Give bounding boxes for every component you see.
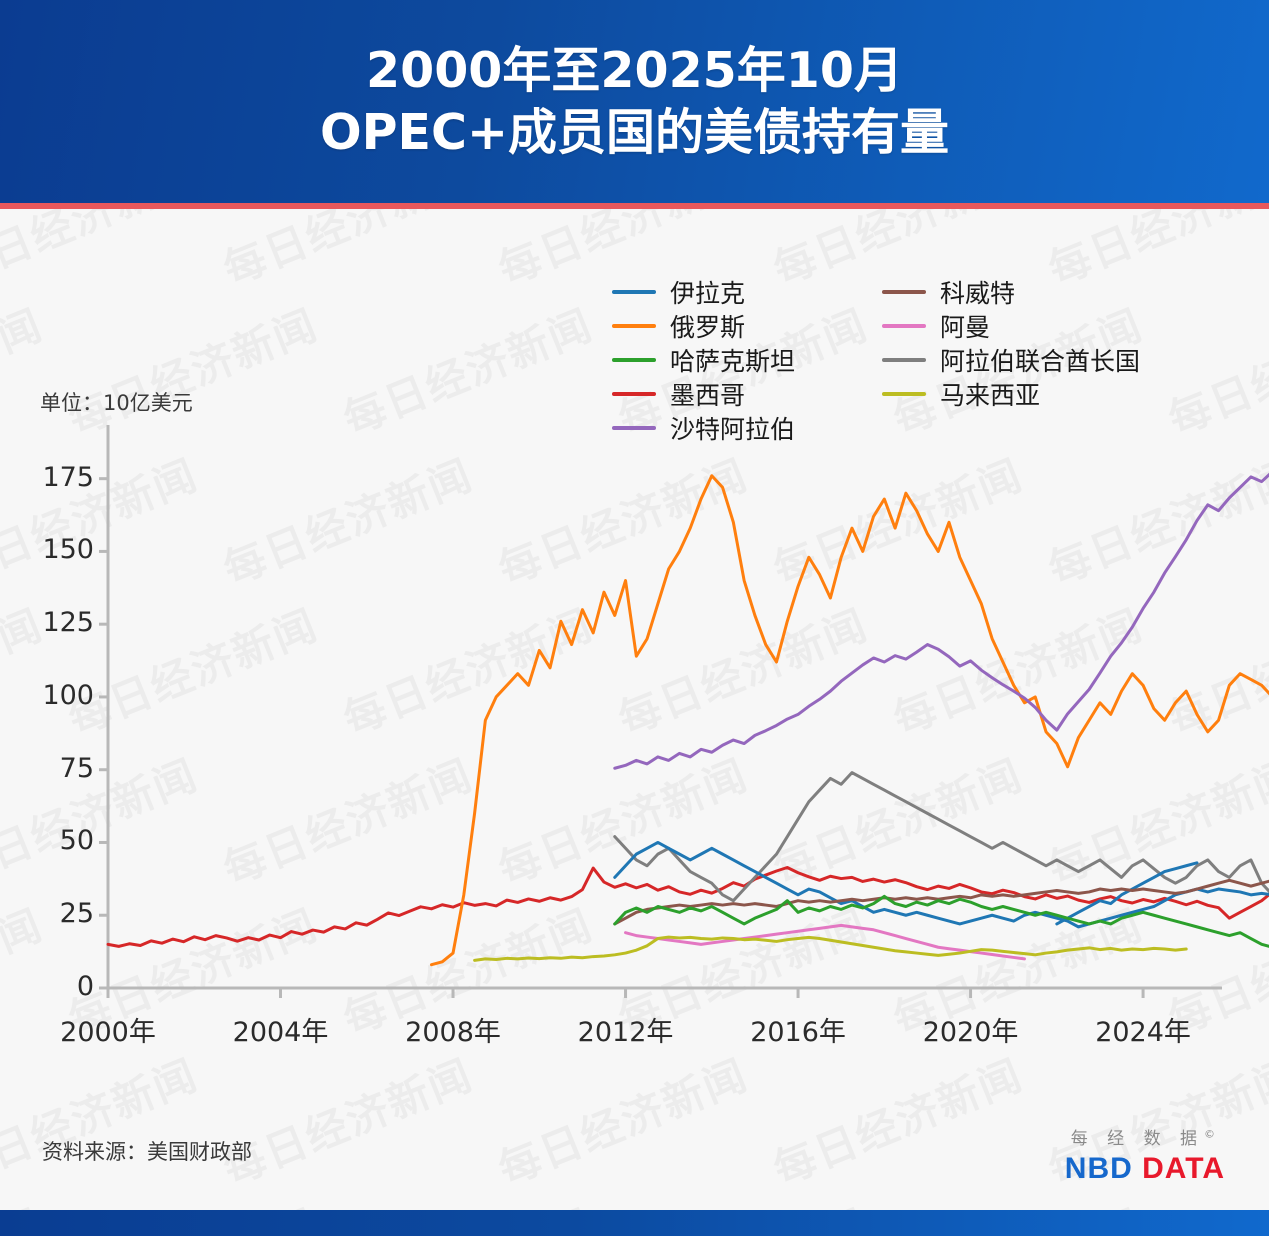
legend-color-swatch <box>882 358 926 362</box>
copyright-mark: © <box>1204 1127 1215 1140</box>
x-axis-tick-label: 2008年 <box>373 1010 533 1049</box>
legend-item[interactable]: 科威特 <box>882 275 1182 309</box>
brand-logo: 每 经 数 据© NBD DATA <box>1065 1124 1225 1186</box>
footer: 资料来源：美国财政部 每 经 数 据© NBD DATA <box>0 1110 1269 1210</box>
legend-item[interactable]: 伊拉克 <box>612 275 862 309</box>
y-axis-tick-label: 100 <box>10 680 94 711</box>
chart-container: 单位：10亿美元 伊拉克俄罗斯哈萨克斯坦墨西哥沙特阿拉伯科威特阿曼阿拉伯联合酋长… <box>0 209 1269 1210</box>
brand-cn-text: 每 经 数 据 <box>1071 1129 1204 1149</box>
legend-label: 墨西哥 <box>670 376 745 412</box>
chart-legend: 伊拉克俄罗斯哈萨克斯坦墨西哥沙特阿拉伯科威特阿曼阿拉伯联合酋长国马来西亚 <box>612 275 1182 445</box>
x-axis-tick-label: 2016年 <box>718 1010 878 1049</box>
legend-label: 俄罗斯 <box>670 308 745 344</box>
title-line-1: 2000年至2025年10月 <box>366 40 903 102</box>
legend-label: 哈萨克斯坦 <box>670 342 795 378</box>
footer-bar <box>0 1210 1269 1236</box>
x-axis-tick-label: 2000年 <box>28 1010 188 1049</box>
legend-color-swatch <box>612 358 656 362</box>
legend-label: 科威特 <box>940 274 1015 310</box>
legend-color-swatch <box>882 392 926 396</box>
legend-item[interactable]: 沙特阿拉伯 <box>612 411 862 445</box>
series-line-阿拉伯联合酋长国 <box>615 668 1269 930</box>
infographic-page: 2000年至2025年10月 OPEC+成员国的美债持有量 每日经济新闻每日经济… <box>0 0 1269 1236</box>
series-line-马来西亚 <box>475 937 1187 960</box>
source-note: 资料来源：美国财政部 <box>42 1136 252 1166</box>
legend-label: 伊拉克 <box>670 274 745 310</box>
y-axis-tick-label: 175 <box>10 462 94 493</box>
y-axis-tick-label: 75 <box>10 753 94 784</box>
legend-color-swatch <box>612 392 656 396</box>
legend-item[interactable]: 墨西哥 <box>612 377 862 411</box>
y-axis-tick-label: 25 <box>10 898 94 929</box>
y-axis-tick-label: 125 <box>10 607 94 638</box>
series-layer <box>108 452 1269 980</box>
x-axis-tick-label: 2024年 <box>1063 1010 1223 1049</box>
y-axis-tick-label: 150 <box>10 534 94 565</box>
legend-item[interactable]: 俄罗斯 <box>612 309 862 343</box>
brand-name-en: NBD DATA <box>1065 1152 1225 1186</box>
series-line-俄罗斯 <box>431 476 1269 980</box>
legend-item[interactable]: 阿曼 <box>882 309 1182 343</box>
legend-color-swatch <box>612 290 656 294</box>
title-line-2: OPEC+成员国的美债持有量 <box>320 102 949 164</box>
y-axis-tick-label: 50 <box>10 825 94 856</box>
brand-data-text: DATA <box>1142 1152 1225 1185</box>
legend-color-swatch <box>612 426 656 430</box>
legend-item[interactable]: 阿拉伯联合酋长国 <box>882 343 1182 377</box>
x-axis-tick-label: 2020年 <box>891 1010 1051 1049</box>
legend-color-swatch <box>882 290 926 294</box>
legend-item[interactable]: 马来西亚 <box>882 377 1182 411</box>
y-axis-tick-label: 0 <box>10 971 94 1002</box>
brand-nbd-text: NBD <box>1065 1152 1133 1185</box>
x-axis-tick-label: 2004年 <box>201 1010 361 1049</box>
brand-name-cn: 每 经 数 据© <box>1065 1124 1225 1149</box>
legend-label: 阿曼 <box>940 308 990 344</box>
legend-color-swatch <box>882 324 926 328</box>
axis-layer <box>99 425 1222 998</box>
series-line-沙特阿拉伯 <box>615 452 1269 768</box>
legend-label: 阿拉伯联合酋长国 <box>940 342 1140 378</box>
legend-color-swatch <box>612 324 656 328</box>
legend-label: 沙特阿拉伯 <box>670 410 795 446</box>
series-line-阿曼 <box>626 925 1025 958</box>
legend-label: 马来西亚 <box>940 376 1040 412</box>
x-axis-tick-label: 2012年 <box>546 1010 706 1049</box>
header-banner: 2000年至2025年10月 OPEC+成员国的美债持有量 <box>0 0 1269 203</box>
legend-item[interactable]: 哈萨克斯坦 <box>612 343 862 377</box>
